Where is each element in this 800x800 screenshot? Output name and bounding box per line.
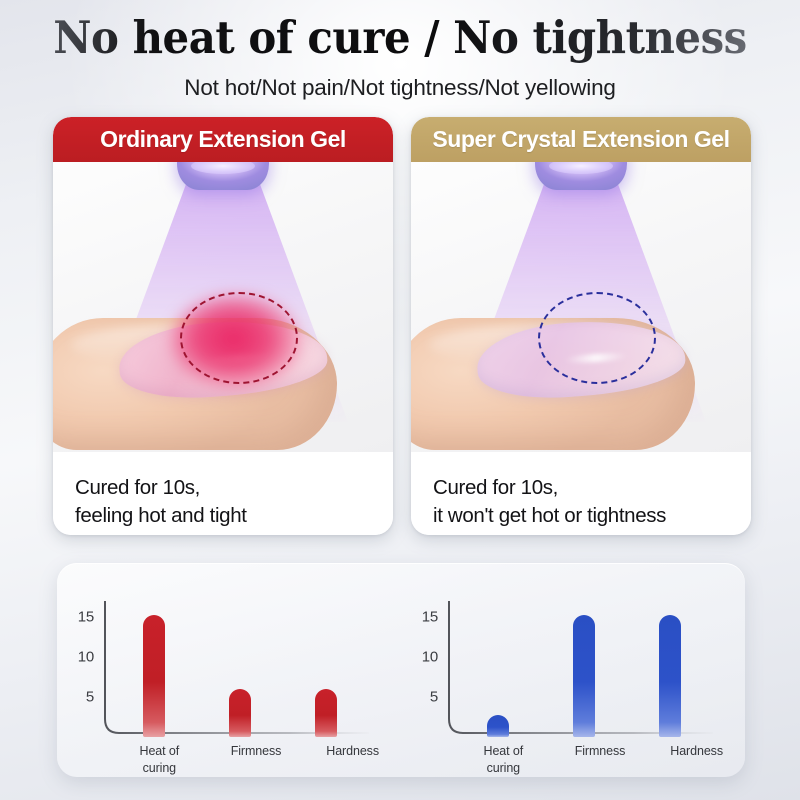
comparison-card-super-crystal: Super Crystal Extension Gel Cured for 10… bbox=[411, 117, 751, 535]
uv-lamp-icon bbox=[177, 162, 269, 190]
y-tick-10: 10 bbox=[422, 649, 438, 666]
bar-hardness bbox=[659, 615, 681, 737]
x-labels-super-crystal: Heat of curing Firmness Hardness bbox=[455, 743, 745, 777]
x-label-line: Heat of bbox=[466, 743, 540, 760]
bar-firmness bbox=[573, 615, 595, 737]
x-label-firmness: Firmness bbox=[563, 743, 637, 777]
bar-hardness bbox=[315, 689, 337, 737]
x-label-line: Heat of bbox=[122, 743, 196, 760]
x-label-hardness: Hardness bbox=[660, 743, 734, 777]
bars-super-crystal bbox=[455, 601, 713, 737]
bar-slot bbox=[117, 601, 191, 737]
y-tick-15: 15 bbox=[78, 609, 94, 626]
x-label-hardness: Hardness bbox=[316, 743, 390, 777]
bar-firmness bbox=[229, 689, 251, 737]
page-title: No heat of cure / No tightness bbox=[28, 14, 772, 63]
caption-ordinary: Cured for 10s, feeling hot and tight bbox=[53, 452, 393, 535]
x-label-heat-of-curing: Heat of curing bbox=[122, 743, 196, 777]
bar-slot bbox=[633, 601, 707, 737]
x-labels-ordinary: Heat of curing Firmness Hardness bbox=[111, 743, 401, 777]
bar-slot bbox=[547, 601, 621, 737]
x-label-heat-of-curing: Heat of curing bbox=[466, 743, 540, 777]
y-tick-10: 10 bbox=[78, 649, 94, 666]
x-label-firmness: Firmness bbox=[219, 743, 293, 777]
card-header-ordinary: Ordinary Extension Gel bbox=[53, 117, 393, 162]
caption-line-1: Cured for 10s, bbox=[433, 474, 751, 502]
comparison-card-ordinary: Ordinary Extension Gel Cured for 10s, fe… bbox=[53, 117, 393, 535]
bar-slot bbox=[461, 601, 535, 737]
caption-line-1: Cured for 10s, bbox=[75, 474, 393, 502]
caption-super-crystal: Cured for 10s, it won't get hot or tight… bbox=[411, 452, 751, 535]
x-label-line: curing bbox=[466, 760, 540, 777]
y-tick-15: 15 bbox=[422, 609, 438, 626]
photo-ordinary bbox=[53, 162, 393, 452]
chart-axis-ordinary: 15 10 5 bbox=[101, 601, 369, 737]
bar-heat-of-curing bbox=[487, 715, 509, 737]
page-subtitle: Not hot/Not pain/Not tightness/Not yello… bbox=[0, 75, 800, 101]
card-header-label: Ordinary Extension Gel bbox=[100, 126, 346, 153]
chart-super-crystal: 15 10 5 Heat of curing Firmness Hardness bbox=[401, 563, 745, 777]
chart-ordinary: 15 10 5 Heat of curing Firmness Hardness bbox=[57, 563, 401, 777]
caption-line-2: it won't get hot or tightness bbox=[433, 502, 751, 530]
y-tick-5: 5 bbox=[86, 689, 94, 706]
caption-line-2: feeling hot and tight bbox=[75, 502, 393, 530]
y-tick-5: 5 bbox=[430, 689, 438, 706]
dashed-circle-marker-icon bbox=[180, 292, 298, 384]
card-header-super-crystal: Super Crystal Extension Gel bbox=[411, 117, 751, 162]
infographic-stage: No heat of cure / No tightness Not hot/N… bbox=[0, 0, 800, 800]
bars-ordinary bbox=[111, 601, 369, 737]
photo-super-crystal bbox=[411, 162, 751, 452]
dashed-circle-marker-icon bbox=[538, 292, 656, 384]
x-label-line: curing bbox=[122, 760, 196, 777]
card-header-label: Super Crystal Extension Gel bbox=[432, 126, 729, 153]
bar-heat-of-curing bbox=[143, 615, 165, 737]
uv-lamp-icon bbox=[535, 162, 627, 190]
chart-panel: 15 10 5 Heat of curing Firmness Hardness bbox=[57, 563, 745, 777]
chart-axis-super-crystal: 15 10 5 bbox=[445, 601, 713, 737]
bar-slot bbox=[289, 601, 363, 737]
bar-slot bbox=[203, 601, 277, 737]
